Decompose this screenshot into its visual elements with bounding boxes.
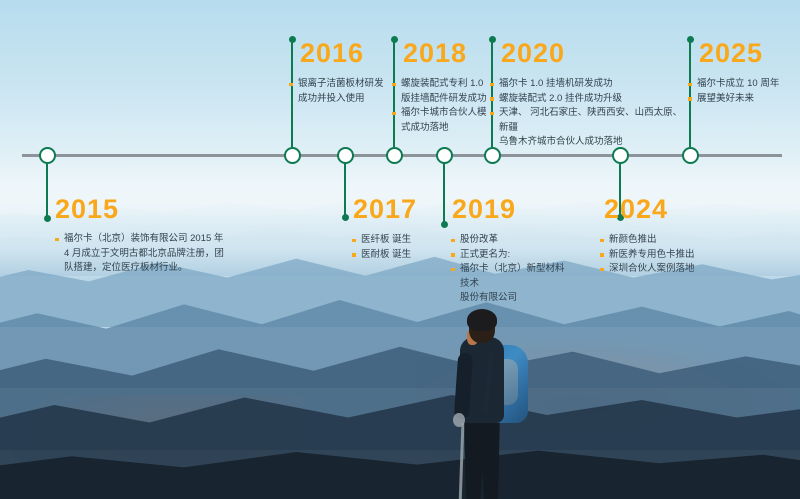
milestone-bullets-2015: 福尔卡（北京）装饰有限公司 2015 年 4 月成立于文明古都北京品牌注册，团 … (55, 232, 230, 276)
year-label-2019: 2019 (452, 196, 516, 223)
timeline-node-2017[interactable] (337, 147, 354, 164)
milestone-bullet: 股份改革 (451, 233, 569, 248)
milestone-bullets-2024: 新颜色推出新医养专用色卡推出深圳合伙人案例落地 (600, 233, 735, 277)
milestone-bullets-2017: 医纤板 诞生医耐板 诞生 (352, 233, 462, 262)
timeline-stem-dot-2025 (687, 36, 694, 43)
timeline-stem-2017 (344, 163, 347, 218)
timeline-stem-dot-2020 (489, 36, 496, 43)
hiker-hand (453, 413, 465, 427)
hiker-legs (464, 413, 500, 499)
timeline-node-2016[interactable] (284, 147, 301, 164)
hiker-figure (438, 305, 548, 499)
milestone-bullet: 银离子洁菌板材研发 成功并投入使用 (289, 77, 399, 106)
milestone-bullet: 福尔卡成立 10 周年 (688, 77, 798, 92)
timeline-stem-dot-2019 (441, 221, 448, 228)
milestone-bullet: 新医养专用色卡推出 (600, 248, 735, 263)
timeline-stem-2019 (443, 163, 446, 225)
milestone-bullet: 福尔卡（北京）新型材料技术 股份有限公司 (451, 262, 569, 306)
timeline-stem-dot-2016 (289, 36, 296, 43)
year-label-2017: 2017 (353, 196, 417, 223)
year-label-2016: 2016 (300, 40, 364, 67)
hiker-trekking-pole (459, 423, 465, 499)
timeline-node-2020[interactable] (484, 147, 501, 164)
year-label-2018: 2018 (403, 40, 467, 67)
milestone-bullet: 深圳合伙人案例落地 (600, 262, 735, 277)
timeline-infographic: 2015福尔卡（北京）装饰有限公司 2015 年 4 月成立于文明古都北京品牌注… (0, 0, 800, 499)
year-label-2015: 2015 (55, 196, 119, 223)
milestone-bullet: 福尔卡 1.0 挂墙机研发成功 (490, 77, 690, 92)
timeline-stem-dot-2015 (44, 215, 51, 222)
timeline-node-2025[interactable] (682, 147, 699, 164)
milestone-bullets-2025: 福尔卡成立 10 周年展望美好未来 (688, 77, 798, 106)
milestone-bullet: 正式更名为: (451, 248, 569, 263)
timeline-node-2018[interactable] (386, 147, 403, 164)
timeline-stem-dot-2018 (391, 36, 398, 43)
milestone-bullets-2019: 股份改革正式更名为:福尔卡（北京）新型材料技术 股份有限公司 (451, 233, 569, 306)
timeline-stem-dot-2017 (342, 214, 349, 221)
hiker-hair (467, 309, 497, 331)
milestone-bullet: 天津、 河北石家庄、陕西西安、山西太原、新疆 乌鲁木齐城市合伙人成功落地 (490, 106, 690, 150)
milestone-bullet: 医耐板 诞生 (352, 248, 462, 263)
timeline-node-2019[interactable] (436, 147, 453, 164)
timeline-node-2024[interactable] (612, 147, 629, 164)
year-label-2025: 2025 (699, 40, 763, 67)
milestone-bullet: 新颜色推出 (600, 233, 735, 248)
milestone-bullets-2016: 银离子洁菌板材研发 成功并投入使用 (289, 77, 399, 106)
year-label-2024: 2024 (604, 196, 668, 223)
timeline-node-2015[interactable] (39, 147, 56, 164)
milestone-bullet: 螺旋装配式 2.0 挂件成功升级 (490, 92, 690, 107)
milestone-bullet: 展望美好未来 (688, 92, 798, 107)
timeline-stem-2015 (46, 163, 49, 219)
year-label-2020: 2020 (501, 40, 565, 67)
milestone-bullets-2020: 福尔卡 1.0 挂墙机研发成功螺旋装配式 2.0 挂件成功升级天津、 河北石家庄… (490, 77, 690, 150)
milestone-bullet: 福尔卡（北京）装饰有限公司 2015 年 4 月成立于文明古都北京品牌注册，团 … (55, 232, 230, 276)
milestone-bullet: 医纤板 诞生 (352, 233, 462, 248)
